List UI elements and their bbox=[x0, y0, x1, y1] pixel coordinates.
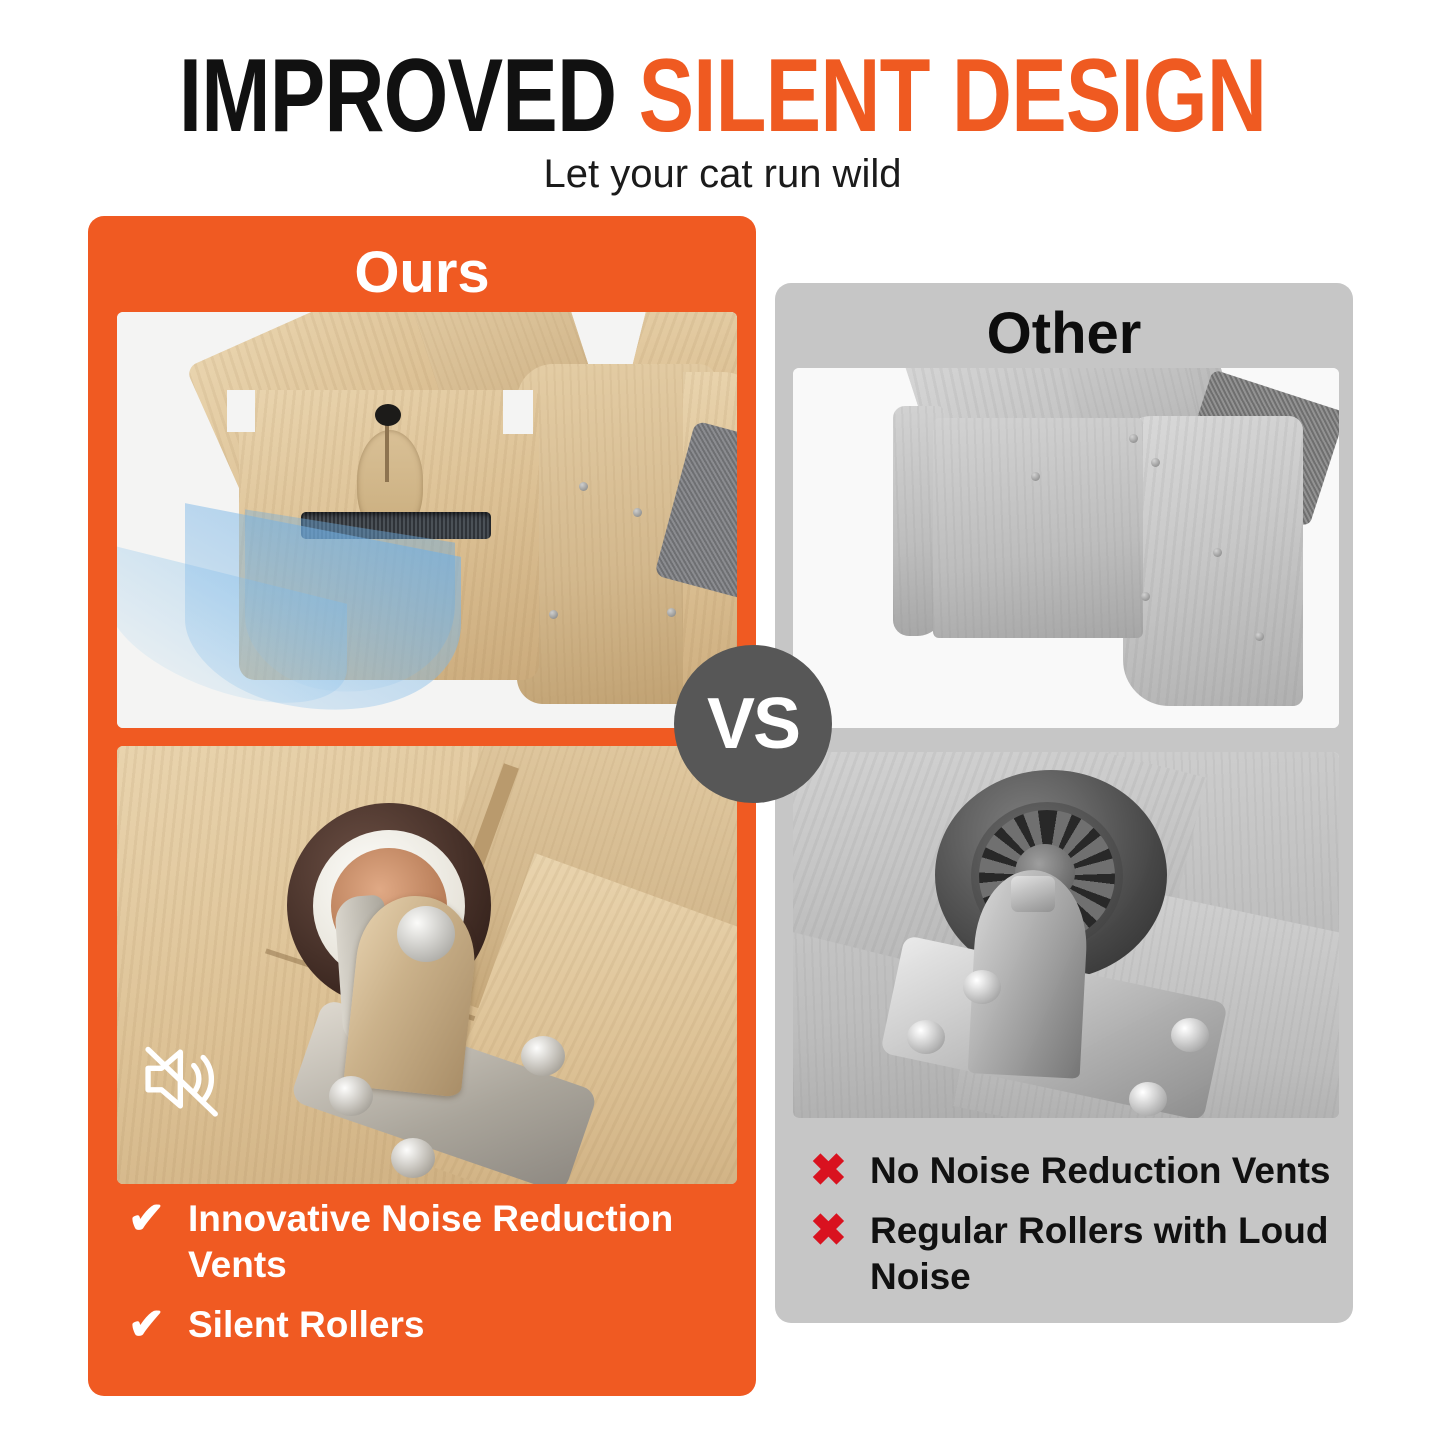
axle-bolt bbox=[1011, 876, 1055, 912]
feature-text: No Noise Reduction Vents bbox=[870, 1148, 1331, 1194]
infographic-canvas: IMPROVED SILENT DESIGN Let your cat run … bbox=[0, 0, 1445, 1445]
screw bbox=[1171, 1018, 1209, 1052]
screw bbox=[521, 1036, 565, 1076]
check-icon: ✔ bbox=[128, 1196, 188, 1242]
screw bbox=[1129, 434, 1138, 443]
other-base-photo bbox=[793, 368, 1339, 728]
face-notch-left bbox=[227, 390, 255, 432]
list-item: ✔ Innovative Noise Reduction Vents bbox=[128, 1196, 728, 1288]
screw bbox=[1141, 592, 1150, 601]
page-title-part-1: IMPROVED bbox=[179, 38, 616, 154]
list-item: ✖ Regular Rollers with Loud Noise bbox=[810, 1208, 1350, 1300]
ours-roller-photo bbox=[117, 746, 737, 1184]
other-roller-photo bbox=[793, 752, 1339, 1118]
screw bbox=[1031, 472, 1040, 481]
check-icon: ✔ bbox=[128, 1302, 188, 1348]
screw bbox=[907, 1020, 945, 1054]
feature-text: Silent Rollers bbox=[188, 1302, 424, 1348]
feature-text: Regular Rollers with Loud Noise bbox=[870, 1208, 1350, 1300]
screw bbox=[963, 970, 1001, 1004]
screw bbox=[549, 610, 558, 619]
knob-stem bbox=[385, 420, 389, 482]
screw bbox=[633, 508, 642, 517]
screw bbox=[667, 608, 676, 617]
ours-feature-list: ✔ Innovative Noise Reduction Vents ✔ Sil… bbox=[128, 1196, 728, 1362]
screw bbox=[579, 482, 588, 491]
cross-icon: ✖ bbox=[810, 1148, 870, 1194]
vs-badge: VS bbox=[674, 645, 832, 803]
adjustment-knob bbox=[375, 404, 401, 426]
screw bbox=[1129, 1082, 1167, 1116]
other-feature-list: ✖ No Noise Reduction Vents ✖ Regular Rol… bbox=[810, 1148, 1350, 1314]
cross-icon: ✖ bbox=[810, 1208, 870, 1254]
feature-text: Innovative Noise Reduction Vents bbox=[188, 1196, 728, 1288]
mute-speaker-icon bbox=[139, 1036, 227, 1122]
screw bbox=[329, 1076, 373, 1116]
page-title-part-2: SILENT DESIGN bbox=[639, 38, 1267, 154]
caster-axle bbox=[397, 906, 455, 962]
page-title: IMPROVED SILENT DESIGN bbox=[145, 44, 1301, 148]
ours-panel-title: Ours bbox=[88, 244, 756, 302]
ours-vent-photo bbox=[117, 312, 737, 728]
screw bbox=[391, 1138, 435, 1178]
list-item: ✔ Silent Rollers bbox=[128, 1302, 728, 1348]
screw bbox=[1151, 458, 1160, 467]
base-front-face-no-vent bbox=[933, 418, 1143, 638]
screw bbox=[1213, 548, 1222, 557]
other-panel-title: Other bbox=[775, 305, 1353, 363]
list-item: ✖ No Noise Reduction Vents bbox=[810, 1148, 1350, 1194]
screw bbox=[1255, 632, 1264, 641]
base-side-right bbox=[1123, 416, 1303, 706]
face-notch-right bbox=[503, 390, 533, 434]
page-subtitle: Let your cat run wild bbox=[0, 152, 1445, 197]
